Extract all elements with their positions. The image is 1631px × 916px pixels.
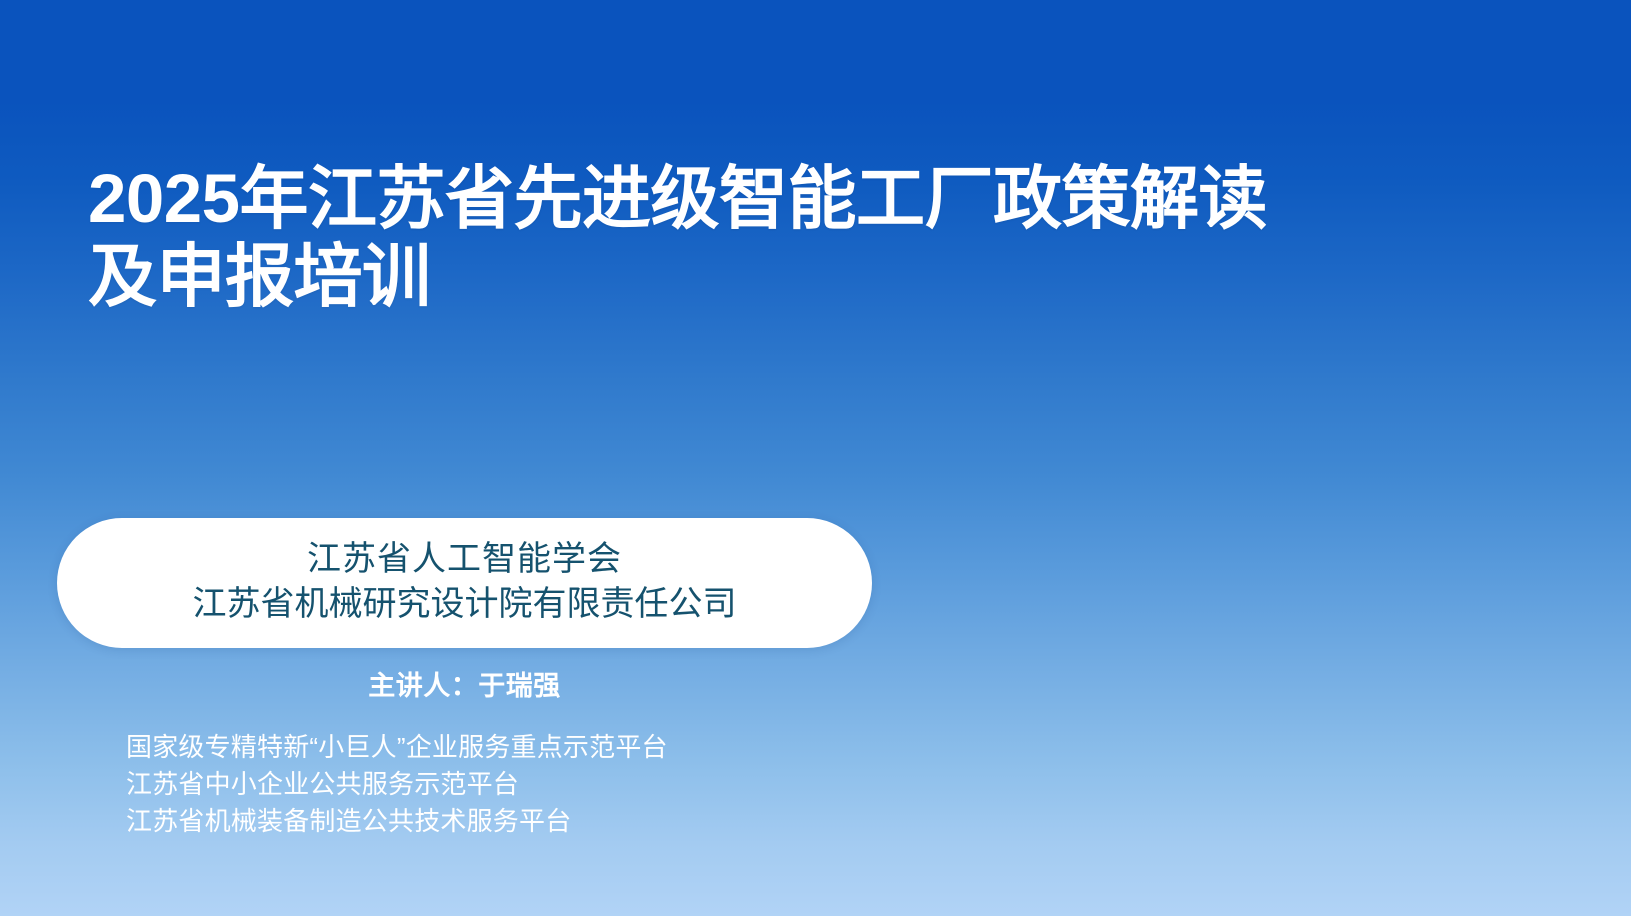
credential-line: 国家级专精特新“小巨人”企业服务重点示范平台 (126, 729, 668, 766)
presentation-slide: 2025年江苏省先进级智能工厂政策解读 及申报培训 江苏省人工智能学会 江苏省机… (0, 0, 1631, 916)
platform-credentials: 国家级专精特新“小巨人”企业服务重点示范平台 江苏省中小企业公共服务示范平台 江… (126, 729, 668, 840)
organization-name-1: 江苏省人工智能学会 (307, 537, 622, 582)
organization-name-2: 江苏省机械研究设计院有限责任公司 (193, 582, 737, 627)
slide-title-line-2: 及申报培训 (88, 238, 1508, 316)
credential-line: 江苏省中小企业公共服务示范平台 (126, 766, 668, 803)
slide-title: 2025年江苏省先进级智能工厂政策解读 及申报培训 (88, 160, 1508, 316)
speaker-label: 主讲人：于瑞强 (57, 664, 872, 703)
organization-pill: 江苏省人工智能学会 江苏省机械研究设计院有限责任公司 (57, 518, 872, 648)
credential-line: 江苏省机械装备制造公共技术服务平台 (126, 803, 668, 840)
slide-title-line-1: 2025年江苏省先进级智能工厂政策解读 (88, 160, 1508, 238)
